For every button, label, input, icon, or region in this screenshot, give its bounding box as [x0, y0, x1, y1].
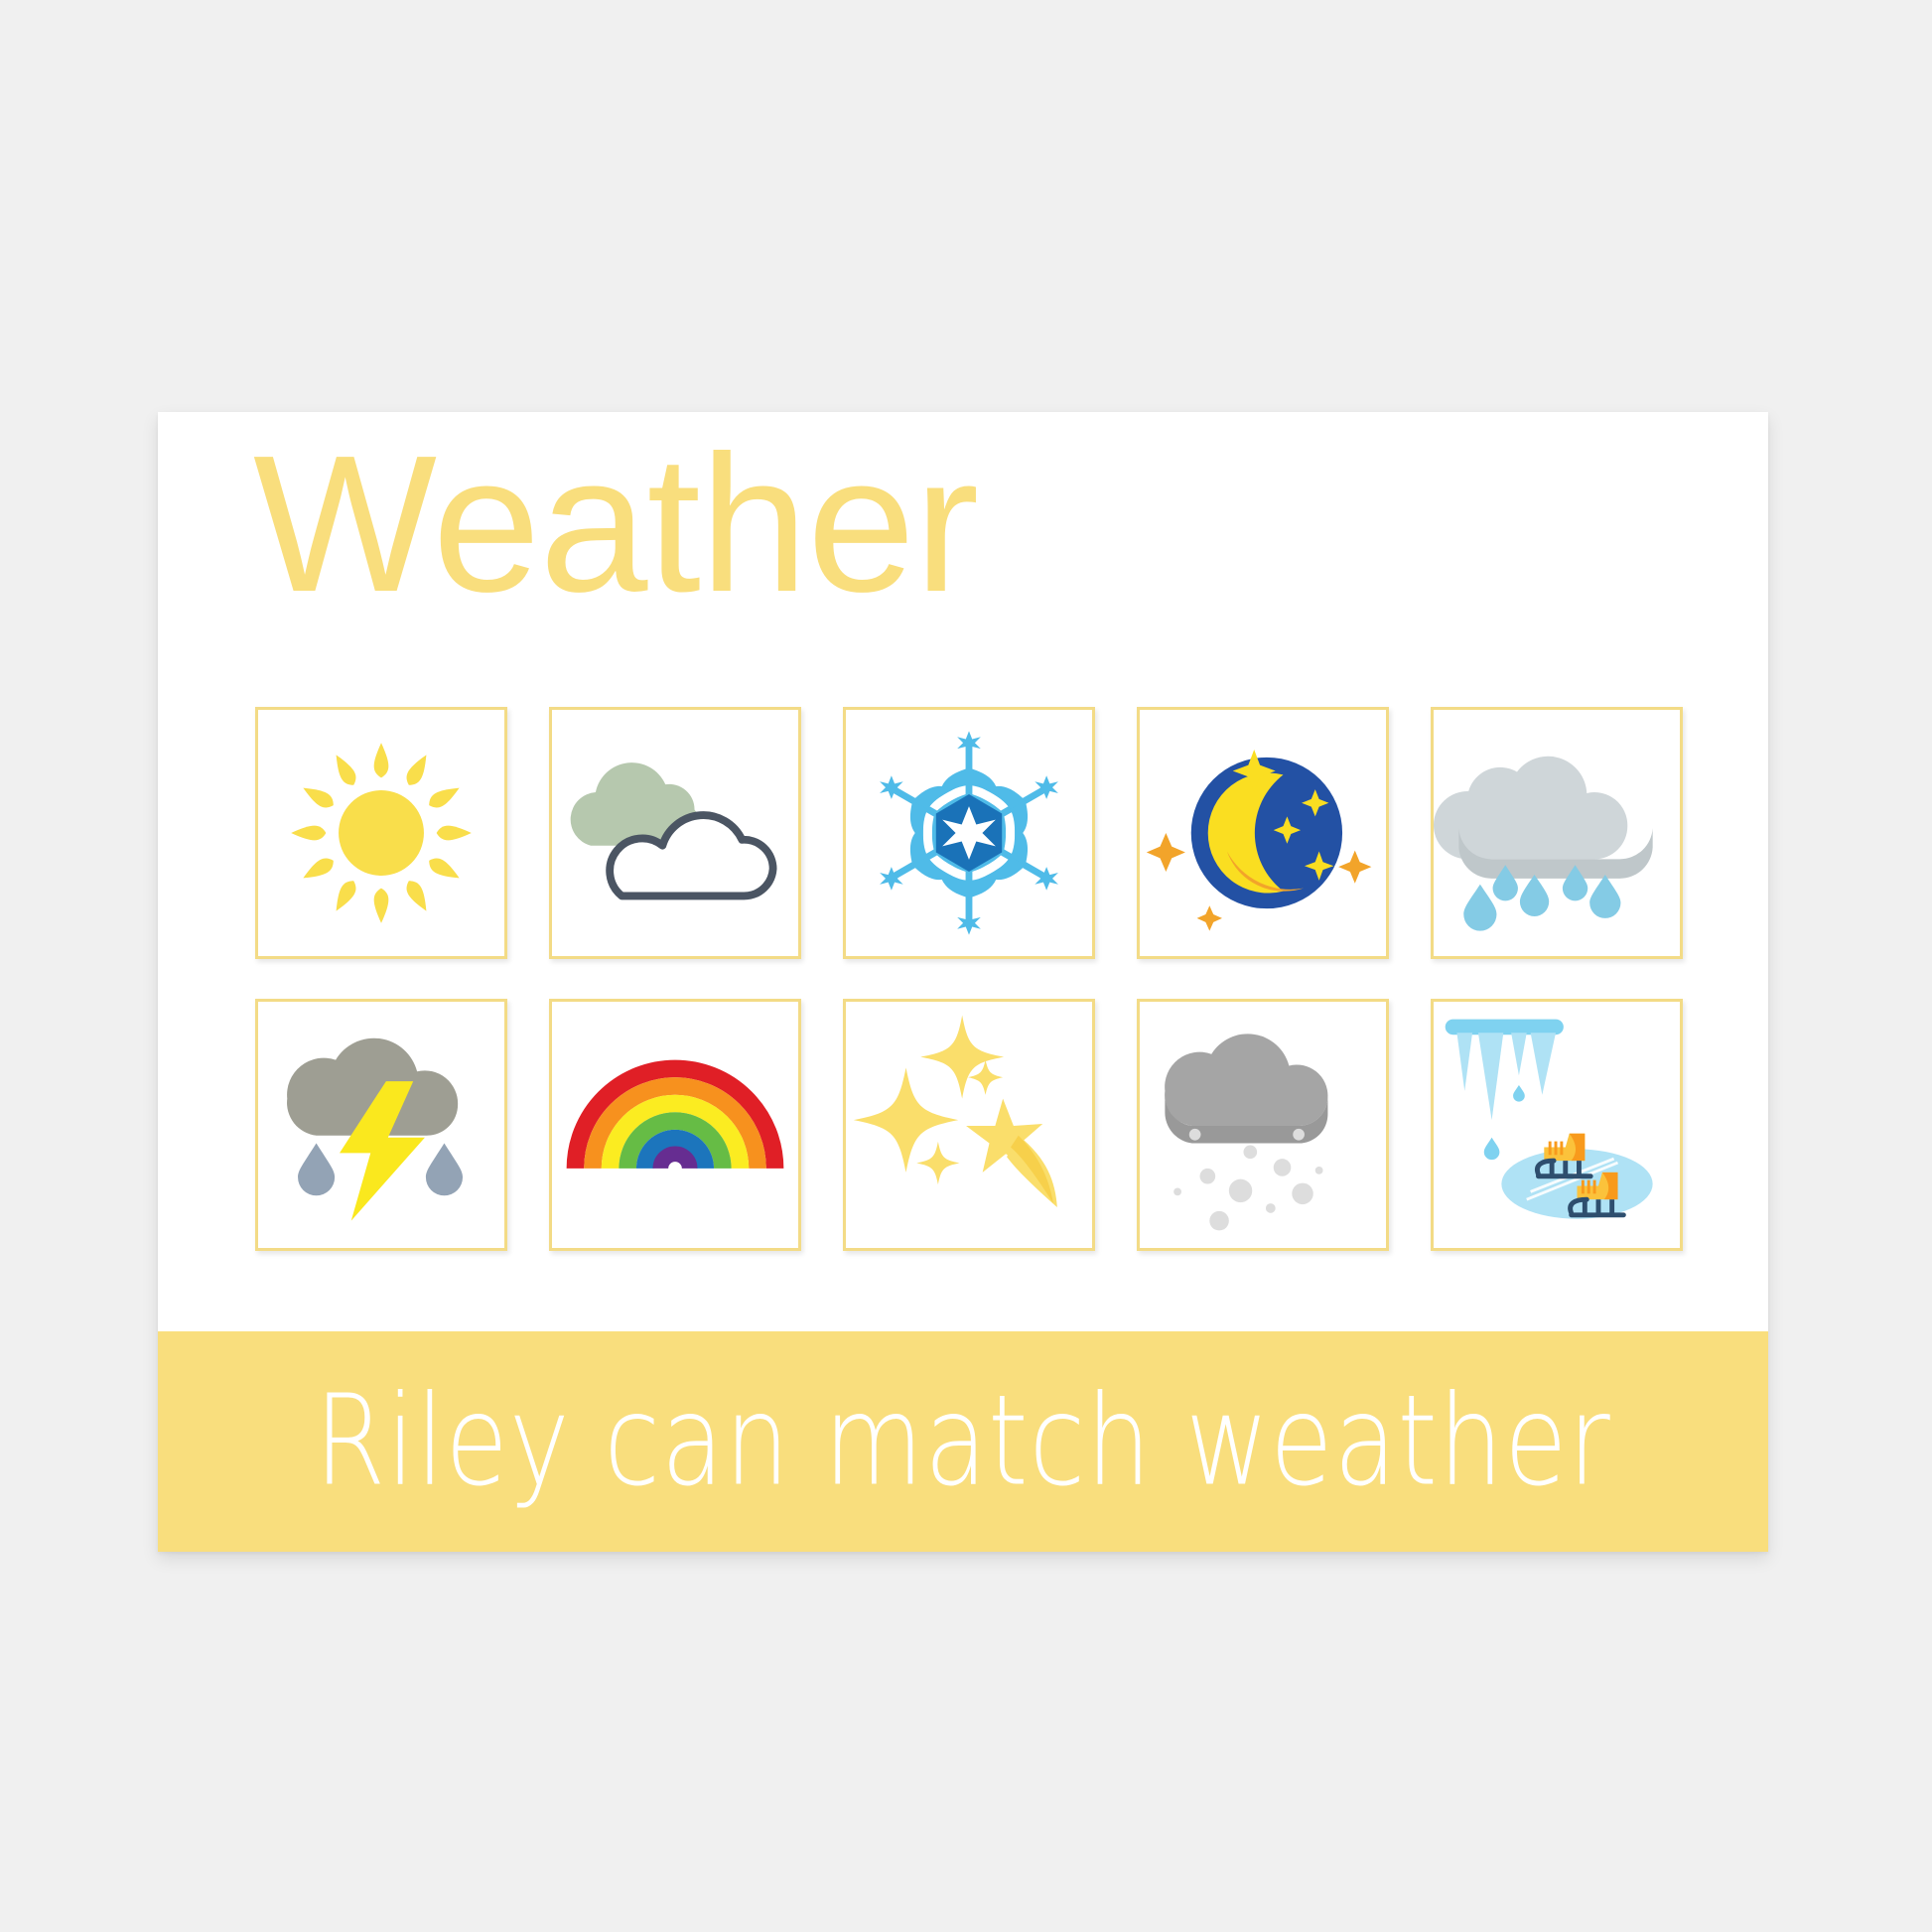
ice-skates-icon	[1434, 1002, 1680, 1248]
tile-cloudy[interactable]	[549, 707, 801, 959]
tile-snow[interactable]	[1137, 999, 1389, 1251]
weather-placemat-card: Weather	[158, 412, 1768, 1552]
rain-cloud-icon	[1434, 710, 1680, 956]
tile-sun[interactable]	[255, 707, 507, 959]
night-moon-icon	[1140, 710, 1386, 956]
thunderstorm-icon	[258, 1002, 504, 1248]
snow-cloud-icon	[1140, 1002, 1386, 1248]
tile-night-moon[interactable]	[1137, 707, 1389, 959]
sparkles-icon	[846, 1002, 1092, 1248]
page-title: Weather	[253, 427, 978, 621]
tile-sparkles[interactable]	[843, 999, 1095, 1251]
tile-rainbow[interactable]	[549, 999, 801, 1251]
tile-ice[interactable]	[1431, 999, 1683, 1251]
screenshot-stage: Weather	[0, 0, 1932, 1932]
sun-icon	[258, 710, 504, 956]
snowflake-icon	[846, 710, 1092, 956]
weather-icon-grid	[255, 707, 1685, 1251]
rainbow-icon	[552, 1002, 798, 1248]
name-banner: Riley can match weather	[158, 1331, 1768, 1552]
tile-thunderstorm[interactable]	[255, 999, 507, 1251]
banner-text: Riley can match weather	[315, 1369, 1611, 1514]
tile-snowflake[interactable]	[843, 707, 1095, 959]
cloudy-icon	[552, 710, 798, 956]
tile-rain[interactable]	[1431, 707, 1683, 959]
